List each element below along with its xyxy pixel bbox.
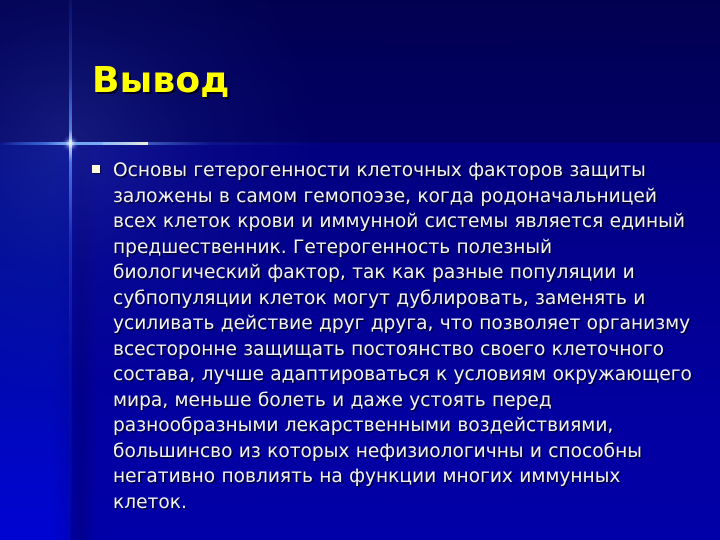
- star-sparkle-center-icon: [63, 136, 78, 151]
- background-bottom-left: [0, 143, 70, 540]
- star-sparkle-horizontal-core-icon: [0, 142, 148, 145]
- star-sparkle-horizontal-icon: [0, 142, 330, 145]
- presentation-slide: Вывод Основы гетерогенности клеточных фа…: [0, 0, 720, 540]
- background-top-left: [0, 0, 70, 143]
- list-item-label: Основы гетерогенности клеточных факторов…: [113, 158, 694, 515]
- slide-body: Основы гетерогенности клеточных факторов…: [88, 158, 694, 515]
- list-item: Основы гетерогенности клеточных факторов…: [88, 158, 694, 515]
- square-bullet-icon: [92, 165, 100, 173]
- star-sparkle-vertical-icon: [69, 0, 72, 540]
- slide-title: Вывод: [92, 60, 230, 101]
